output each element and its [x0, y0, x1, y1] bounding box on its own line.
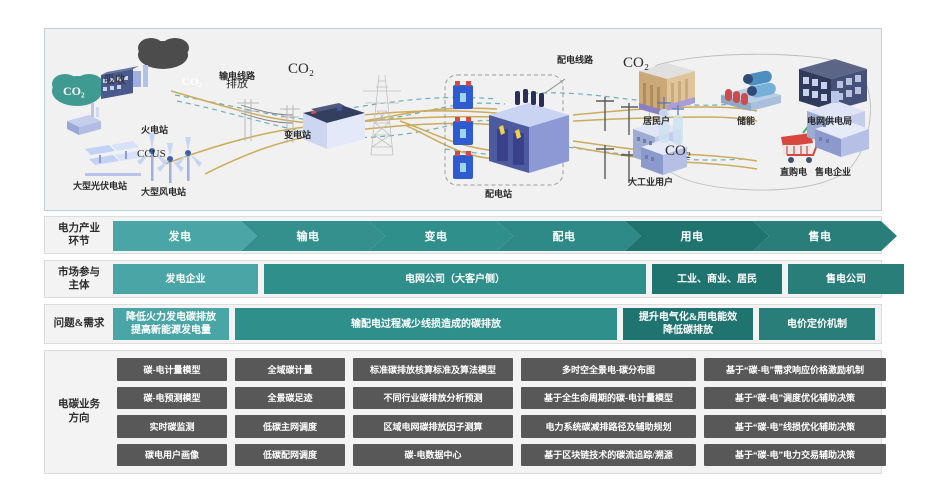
label-co2-emission: CO₂	[182, 76, 202, 88]
market-participants-row-label: 市场参与 主体	[45, 266, 113, 292]
problem-segment-2[interactable]: 输配电过程减少线损造成的碳排放	[235, 308, 617, 340]
problem-segment-4[interactable]: 电价定价机制	[759, 308, 875, 340]
market-participants-row: 市场参与 主体 发电企业电网公司（大客户侧）工业、商业、居民售电公司	[44, 260, 882, 298]
label-dist-line: 配电线路	[557, 53, 593, 66]
label-transmission-line: 输电线路	[219, 69, 255, 82]
chain-stage-4[interactable]: 配电	[497, 221, 641, 251]
label-resident: 居民户	[643, 114, 670, 127]
problem-segment-container: 降低火力发电碳排放 提高新能源发电量输配电过程减少线损造成的碳排放提升电气化&用…	[113, 308, 881, 340]
market-segment-label: 电网公司（大客户侧）	[405, 273, 505, 286]
label-substation: 变电站	[284, 128, 311, 141]
problem-segment-3[interactable]: 提升电气化&用电能效 降低碳排放	[623, 308, 753, 340]
chain-stage-2[interactable]: 输电	[241, 221, 385, 251]
business-cell-r2-c1[interactable]: 碳-电预测模型	[117, 387, 227, 410]
co2-emission-cloud-icon	[138, 38, 189, 69]
business-cell-r4-c5[interactable]: 基于“碳-电”电力交易辅助决策	[704, 444, 886, 467]
industry-chain-row: 电力产业 环节 发电输电变电配电用电售电	[44, 216, 882, 254]
energy-storage-icon	[721, 70, 781, 111]
business-cell-r1-c1[interactable]: 碳-电计量模型	[117, 358, 227, 381]
business-cell-r3-c2[interactable]: 低碳主网调度	[235, 415, 345, 438]
label-co2-industry: CO₂	[665, 143, 691, 160]
business-cell-r2-c5[interactable]: 基于“碳-电”调度优化辅助决策	[704, 387, 886, 410]
label-pv-plant: 大型光伏电站	[73, 179, 127, 192]
label-industry-user: 大工业用户	[628, 175, 673, 188]
label-direct-buy: 直购电	[780, 165, 807, 178]
problem-demand-row-label: 问题&需求	[45, 317, 113, 330]
chain-stage-6[interactable]: 售电	[753, 221, 897, 251]
business-cell-r1-c3[interactable]: 标准碳排放核算标准及算法模型	[353, 358, 513, 381]
illustration-panel: 吸收 CO₂ 火电站 CCUS CO₂ 排放 大型光伏电站 大型风电站 输电线路…	[44, 28, 882, 211]
market-segment-label: 发电企业	[166, 273, 206, 286]
pv-plant-icon	[85, 141, 143, 176]
market-segment-4[interactable]: 售电公司	[788, 264, 904, 294]
business-cell-r3-c1[interactable]: 实时碳监测	[117, 415, 227, 438]
problem-segment-label: 电价定价机制	[787, 318, 847, 331]
business-cell-r3-c5[interactable]: 基于“碳-电”线损优化辅助决策	[704, 415, 886, 438]
label-ccus: CCUS	[137, 148, 166, 160]
label-co2-substation: CO₂	[288, 61, 314, 78]
chain-stage-label: 输电	[297, 228, 320, 244]
business-direction-grid: 碳-电计量模型全域碳计量标准碳排放核算标准及算法模型多时空全景电-碳分布图基于“…	[113, 351, 892, 473]
business-cell-r4-c1[interactable]: 碳电用户画像	[117, 444, 227, 467]
business-cell-r3-c3[interactable]: 区域电网碳排放因子测算	[353, 415, 513, 438]
business-direction-row-label: 电碳业务 方向	[45, 351, 113, 473]
problem-demand-row: 问题&需求 降低火力发电碳排放 提高新能源发电量输配电过程减少线损造成的碳排放提…	[44, 304, 882, 344]
chain-stage-3[interactable]: 变电	[369, 221, 513, 251]
ccus-icon	[67, 103, 101, 135]
problem-segment-label: 输配电过程减少线损造成的碳排放	[351, 318, 501, 331]
label-wind-plant: 大型风电站	[141, 185, 186, 198]
chain-stage-5[interactable]: 用电	[625, 221, 769, 251]
transmission-pylon-icon	[237, 99, 259, 141]
chain-stage-label: 用电	[681, 228, 704, 244]
market-segment-2[interactable]: 电网公司（大客户侧）	[264, 264, 646, 294]
label-thermal-plant: 火电站	[141, 123, 168, 136]
market-segment-label: 售电公司	[826, 273, 866, 286]
chain-stage-label: 配电	[553, 228, 576, 244]
label-co2-resident: CO₂	[623, 55, 649, 72]
business-cell-r4-c3[interactable]: 碳-电数据中心	[353, 444, 513, 467]
label-co2-absorb: CO₂	[63, 84, 85, 99]
label-dist-station: 配电站	[485, 187, 512, 200]
problem-segment-label: 降低火力发电碳排放 提高新能源发电量	[126, 311, 216, 337]
label-storage: 储能	[737, 114, 755, 127]
business-cell-r2-c4[interactable]: 基于全生命周期的碳-电计量模型	[521, 387, 696, 410]
label-retail-ent: 售电企业	[815, 165, 851, 178]
market-segment-3[interactable]: 工业、商业、居民	[652, 264, 782, 294]
business-cell-r1-c4[interactable]: 多时空全景电-碳分布图	[521, 358, 696, 381]
problem-segment-1[interactable]: 降低火力发电碳排放 提高新能源发电量	[113, 308, 229, 340]
business-cell-r3-c4[interactable]: 电力系统碳减排路径及辅助规划	[521, 415, 696, 438]
industry-chain-body: 发电输电变电配电用电售电	[113, 217, 881, 253]
market-segment-1[interactable]: 发电企业	[113, 264, 258, 294]
market-segment-container: 发电企业电网公司（大客户侧）工业、商业、居民售电公司	[113, 264, 881, 294]
power-carbon-industry-diagram: 吸收 CO₂ 火电站 CCUS CO₂ 排放 大型光伏电站 大型风电站 输电线路…	[0, 0, 925, 490]
substation-icon	[303, 103, 365, 149]
problem-demand-body: 降低火力发电碳排放 提高新能源发电量输配电过程减少线损造成的碳排放提升电气化&用…	[113, 305, 881, 343]
chain-stage-label: 售电	[809, 228, 832, 244]
problem-segment-label: 提升电气化&用电能效 降低碳排放	[639, 311, 737, 337]
label-absorb: 吸收	[104, 71, 126, 87]
illustration-graphics	[45, 29, 881, 210]
business-cell-r1-c2[interactable]: 全域碳计量	[235, 358, 345, 381]
business-direction-row: 电碳业务 方向 碳-电计量模型全域碳计量标准碳排放核算标准及算法模型多时空全景电…	[44, 350, 882, 474]
business-cell-r1-c5[interactable]: 基于“碳-电”需求响应价格激励机制	[704, 358, 886, 381]
industry-chain-row-label: 电力产业 环节	[45, 222, 113, 248]
label-supply-bureau: 电网供电局	[807, 114, 852, 127]
distribution-transformer-icon	[489, 79, 569, 173]
chain-stage-1[interactable]: 发电	[113, 221, 257, 251]
chain-stage-label: 变电	[425, 228, 448, 244]
chevron-container: 发电输电变电配电用电售电	[113, 221, 881, 251]
business-cell-r2-c2[interactable]: 全景碳足迹	[235, 387, 345, 410]
chain-stage-label: 发电	[169, 228, 192, 244]
transformer-box-icons	[453, 81, 473, 179]
business-cell-r2-c3[interactable]: 不同行业碳排放分析预测	[353, 387, 513, 410]
market-participants-body: 发电企业电网公司（大客户侧）工业、商业、居民售电公司	[113, 261, 881, 297]
business-cell-r4-c4[interactable]: 基于区块链技术的碳流追踪/溯源	[521, 444, 696, 467]
market-segment-label: 工业、商业、居民	[677, 273, 757, 286]
business-cell-r4-c2[interactable]: 低碳配网调度	[235, 444, 345, 467]
